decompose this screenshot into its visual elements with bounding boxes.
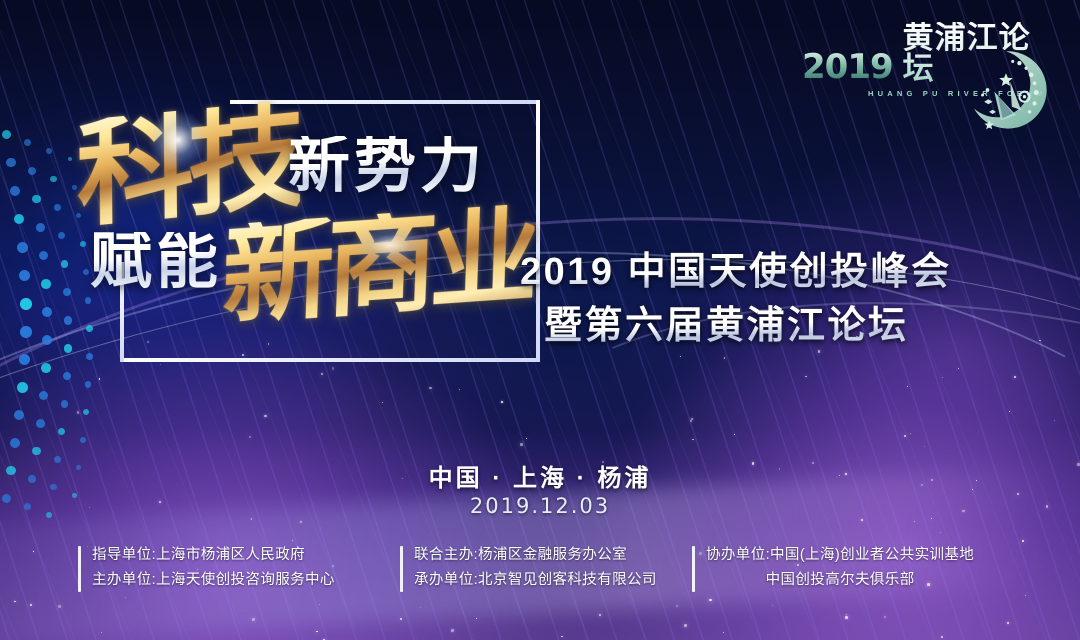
dot [41,363,51,373]
dot [83,409,89,415]
dot [28,167,36,175]
sparkle [709,599,712,602]
sparkle [940,532,941,533]
sparkle [101,632,102,633]
river-forum-emblem-icon [964,48,1048,132]
sparkle [907,386,908,387]
dot [36,419,45,428]
sparkle [451,629,454,632]
sparkle [924,446,925,447]
sparkle [723,632,724,633]
sparkle [459,389,460,390]
sparkle [1022,540,1024,542]
dot [17,382,28,393]
sparkle [400,618,402,620]
sparkle [30,604,32,606]
dot [32,447,40,455]
footer-divider-bar [400,546,403,592]
sparkle [861,519,863,521]
sparkle [33,551,34,552]
dot [61,260,69,268]
sparkle [382,402,384,404]
sparkle [884,616,887,619]
sparkle [1007,622,1009,624]
dot [2,130,11,139]
dot [61,400,69,408]
footer-col3-line2: 中国创投高尔夫俱乐部 [706,571,974,591]
sparkle [914,521,915,522]
sparkle [58,605,60,607]
dot [42,335,52,345]
footer-column-3: 协办单位:中国(上海)创业者公共实训基地 中国创投高尔夫俱乐部 [692,546,974,592]
sparkle [252,618,255,621]
dot [20,298,32,310]
dot [19,270,30,281]
footer-col2-line1: 联合主办:杨浦区金融服务办公室 [414,546,657,566]
sparkle [772,605,773,606]
dot [19,354,30,365]
title-funeng: 赋能 [90,232,222,289]
sparkle [249,436,251,438]
dot [80,437,86,443]
sparkle [931,518,932,519]
sparkle [845,616,848,619]
dot [32,195,40,203]
sparkle [904,435,907,438]
sparkle [429,387,431,389]
sparkle [125,597,126,598]
sparkle [691,418,693,420]
footer-divider-bar [692,546,695,592]
sparkle [1014,376,1016,378]
sparkle [300,521,302,523]
sparkle [1009,411,1010,412]
dot [10,186,20,196]
dot [6,158,15,167]
sparkle [805,376,807,378]
dot [36,223,45,232]
sparkle [14,601,15,602]
sparkle [1025,595,1026,596]
event-title-line1: 2019 中国天使创投峰会 [520,246,990,300]
sparkle [910,433,911,434]
dot [58,232,65,239]
dot [39,391,48,400]
dot [46,148,52,154]
sparkle [319,604,320,605]
event-title-line2: 暨第六届黄浦江论坛 [520,300,990,354]
footer-col1-line2: 主办单位:上海天使创投咨询服务中心 [92,571,335,591]
dot [41,279,51,289]
sparkle [1054,420,1055,421]
sparkle [724,357,725,358]
sparkle [690,420,692,422]
dot [50,176,56,182]
forum-logo: 2019 黄浦江论坛 HUANG PU RIVER FORUM [790,22,1060,132]
venue-text: 中国 · 上海 · 杨浦 [0,458,1080,493]
sparkle [942,377,943,378]
event-poster: 2019 黄浦江论坛 HUANG PU RIVER FORUM [0,0,1080,640]
dot [58,428,65,435]
sparkle [846,614,847,615]
sparkle [684,624,687,627]
sparkle [501,401,503,403]
sparkle [292,540,293,541]
dot [20,326,32,338]
sparkle [958,368,959,369]
sparkle [476,618,477,619]
footer-col2-line2: 承办单位:北京智见创客科技有限公司 [414,571,657,591]
dot [42,307,52,317]
event-title: 2019 中国天使创投峰会 暨第六届黄浦江论坛 [520,246,990,354]
dot [14,214,24,224]
sparkle [520,443,523,446]
dot [17,242,28,253]
dot [14,410,24,420]
footer-divider-bar [78,546,81,592]
sparkle [692,439,693,440]
sparkle [599,614,601,616]
dot [10,438,20,448]
logo-year: 2019 [802,50,893,84]
sparkle [680,356,681,357]
title-xinshili: 新势力 [288,136,486,193]
footer-column-1: 指导单位:上海市杨浦区人民政府 主办单位:上海天使创投咨询服务中心 [78,546,400,592]
dot [39,251,48,260]
title-xinshangye: 新商业 [221,203,536,328]
sparkle [676,605,678,607]
footer-credits: 指导单位:上海市杨浦区人民政府 主办单位:上海天使创投咨询服务中心 联合主办:杨… [78,546,1008,592]
sparkle [251,518,252,519]
date-text: 2019.12.03 [0,494,1080,518]
sparkle [420,607,421,608]
dot [54,204,61,211]
sparkle [264,415,267,418]
footer-col1-line1: 指导单位:上海市杨浦区人民政府 [92,546,335,566]
footer-column-2: 联合主办:杨浦区金融服务办公室 承办单位:北京智见创客科技有限公司 [400,546,692,592]
sparkle [561,636,562,637]
main-title-block: 科技 新势力 赋能 新商业 [70,96,540,386]
sparkle [526,438,527,439]
sparkle [316,631,318,633]
sparkle [1039,340,1041,342]
sparkle [734,434,735,435]
footer-col3-line1: 协办单位:中国(上海)创业者公共实训基地 [706,546,974,566]
sparkle [941,636,943,638]
dot [24,139,31,146]
